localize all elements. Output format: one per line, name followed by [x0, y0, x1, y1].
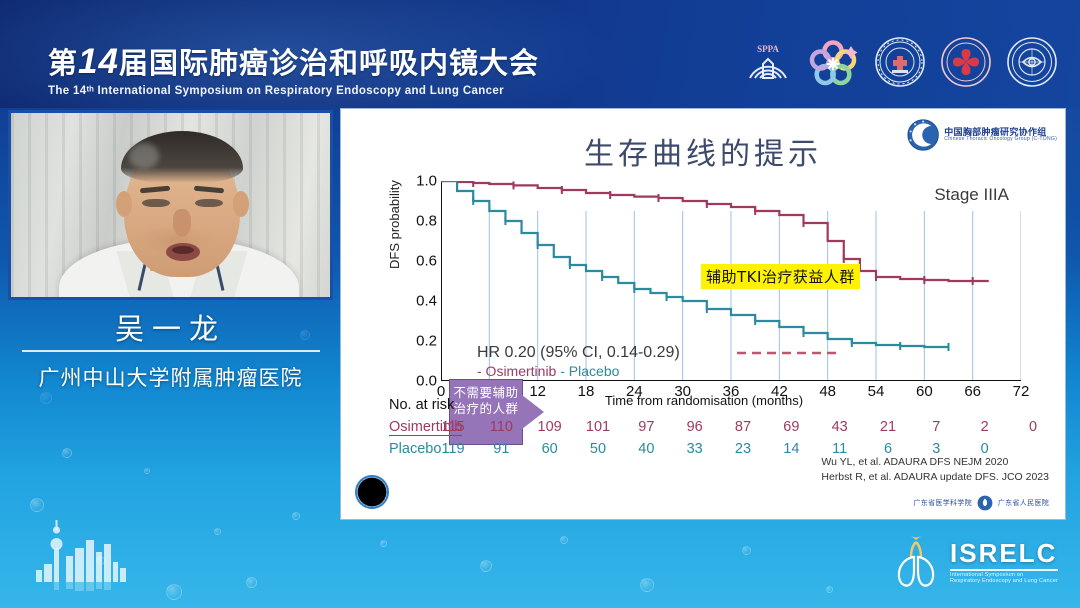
risk-value: 115	[441, 419, 464, 435]
risk-value: 97	[638, 419, 654, 435]
y-tick-label: 0.6	[416, 253, 437, 270]
citation-line-1: Wu YL, et al. ADAURA DFS NEJM 2020	[821, 455, 1049, 470]
title-edition-number: 14	[78, 42, 119, 81]
isrelc-logo: ISRELC International Symposium on Respir…	[890, 534, 1058, 590]
isrelc-name: ISRELC	[950, 540, 1058, 567]
speaker-video-image	[11, 113, 330, 297]
risk-value: 109	[538, 419, 562, 435]
svg-text:SPPA: SPPA	[757, 44, 779, 54]
risk-row-label-placebo: Placebo	[389, 441, 441, 457]
bubble-decoration	[30, 498, 44, 512]
gdph-logo: 广东省医学科学院 广东省人民医院	[913, 495, 1049, 511]
y-tick-label: 0.4	[416, 293, 437, 310]
y-axis-label: DFS probability	[387, 180, 402, 269]
risk-value: 91	[493, 441, 509, 457]
bubble-decoration	[742, 546, 751, 555]
risk-value: 119	[441, 441, 464, 457]
university-seal-logo	[1006, 36, 1058, 88]
chart-legend: - Osimertinib - Placebo	[477, 363, 619, 379]
conference-title-chinese: 第14届国际肺癌诊治和呼吸内镜大会	[48, 40, 539, 82]
citation-line-2: Herbst R, et al. ADAURA update DFS. JCO …	[821, 470, 1049, 485]
title-prefix: 第	[48, 48, 78, 80]
bubble-decoration	[40, 392, 52, 404]
slide-title: 生存曲线的提示	[341, 129, 1065, 173]
risk-value: 7	[932, 419, 940, 435]
red-clover-logo	[940, 36, 992, 88]
isrelc-divider	[950, 569, 1058, 571]
hospital-seal-logo	[874, 36, 926, 88]
km-curve-placebo	[441, 181, 949, 347]
legend-osimertinib: - Osimertinib	[477, 363, 556, 379]
bubble-decoration	[640, 578, 654, 592]
title-rest: 届国际肺癌诊治和呼吸内镜大会	[119, 48, 539, 80]
bubble-decoration	[246, 577, 257, 588]
y-axis-ticks: 1.00.80.60.40.20.0	[403, 181, 437, 381]
risk-value: 101	[586, 419, 610, 435]
risk-value: 40	[638, 441, 654, 457]
risk-value: 96	[687, 419, 703, 435]
citation-block: Wu YL, et al. ADAURA DFS NEJM 2020 Herbs…	[821, 455, 1049, 485]
isrelc-subtitle-2: Respiratory Endoscopy and Lung Cancer	[950, 579, 1058, 585]
bubble-decoration	[380, 540, 387, 547]
conference-title-english: The 14ᵗʰ International Symposium on Resp…	[48, 85, 504, 97]
y-tick-label: 0.0	[416, 373, 437, 390]
risk-value: 43	[832, 419, 848, 435]
bubble-decoration	[826, 586, 833, 593]
y-tick-label: 1.0	[416, 173, 437, 190]
risk-table-title: No. at risk	[389, 397, 454, 413]
risk-value: 110	[490, 419, 513, 435]
hazard-ratio-text: HR 0.20 (95% CI, 0.14-0.29)	[477, 344, 680, 362]
risk-value: 33	[687, 441, 703, 457]
risk-value: 60	[542, 441, 558, 457]
bubble-decoration	[62, 448, 72, 458]
speaker-divider	[22, 350, 320, 352]
app-root: 第14届国际肺癌诊治和呼吸内镜大会 The 14ᵗʰ International…	[0, 0, 1080, 608]
risk-value: 69	[783, 419, 799, 435]
risk-value: 50	[590, 441, 606, 457]
risk-value: 0	[1029, 419, 1037, 435]
bubble-decoration	[214, 528, 221, 535]
km-survival-chart: DFS probability 1.00.80.60.40.20.0 06121…	[381, 181, 1027, 481]
gdph-label-left: 广东省医学科学院	[913, 498, 971, 508]
gdph-label-right: 广东省人民医院	[998, 498, 1049, 508]
speaker-affiliation: 广州中山大学附属肿瘤医院	[8, 362, 333, 392]
y-tick-label: 0.2	[416, 333, 437, 350]
bubble-decoration	[560, 536, 568, 544]
sppa-logo: SPPA	[742, 36, 794, 88]
y-tick-label: 0.8	[416, 213, 437, 230]
speaker-name: 吴一龙	[8, 306, 333, 348]
risk-value: 23	[735, 441, 751, 457]
yellow-annotation-box: 辅助TKI治疗获益人群	[701, 264, 860, 289]
header-logo-group: SPPA	[742, 36, 1058, 88]
bubble-decoration	[166, 584, 182, 600]
shanghai-skyline-graphic	[28, 518, 138, 592]
presentation-slide: 中国胸部肿瘤研究协作组 Chinese Thoracic Oncology Gr…	[340, 108, 1066, 520]
legend-placebo: - Placebo	[560, 363, 619, 379]
flower-logo	[808, 36, 860, 88]
risk-value: 21	[880, 419, 896, 435]
risk-value: 14	[783, 441, 799, 457]
conference-header-banner: 第14届国际肺癌诊治和呼吸内镜大会 The 14ᵗʰ International…	[0, 0, 1080, 108]
bubble-decoration	[144, 468, 150, 474]
slide-footer-lung-logo	[355, 475, 389, 509]
bubble-decoration	[480, 560, 492, 572]
speaker-video-panel[interactable]	[8, 110, 333, 300]
bubble-decoration	[292, 512, 300, 520]
risk-value: 2	[981, 419, 989, 435]
risk-value: 87	[735, 419, 751, 435]
isrelc-lung-icon	[890, 534, 942, 590]
